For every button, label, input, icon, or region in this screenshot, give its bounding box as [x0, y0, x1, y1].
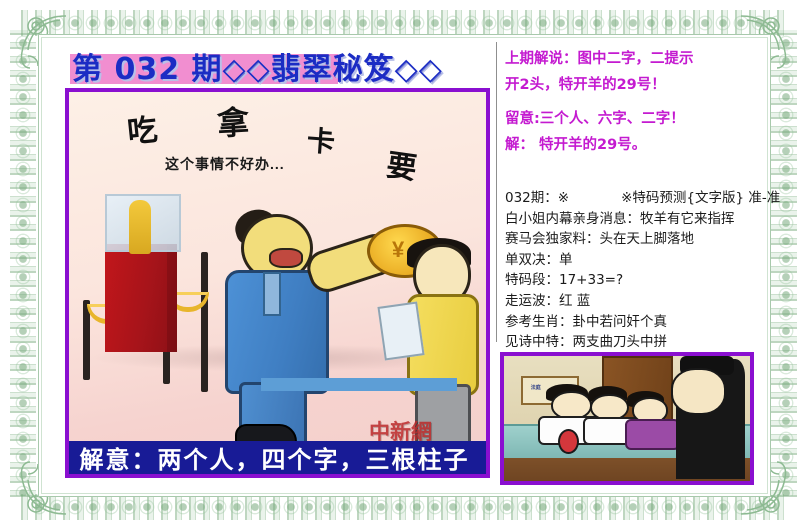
forecast-row: 白小姐内幕亲身消息：牧羊有它来指挥 — [505, 209, 767, 230]
ballot-box-base — [105, 244, 177, 352]
highlight-line-1: 上期解说：图中二字，二提示 — [505, 46, 694, 72]
forecast-mark-1: ※ — [558, 190, 569, 206]
ballot-box-slot — [129, 200, 151, 254]
caption-bar: 解意：两个人，四个字，三根柱子 — [65, 441, 490, 478]
forecast-row: 单双决：单 — [505, 250, 767, 271]
forecast-header-row: 032期：※※特码预测{文字版} 准-准 — [505, 188, 767, 209]
forecast-row: 走运波：红 蓝 — [505, 291, 767, 312]
highlight-line-3: 留意:三个人、六字、二字！ — [505, 106, 685, 132]
right-column: 上期解说：图中二字，二提示 开2头，特开羊的29号！ 留意:三个人、六字、二字！… — [499, 40, 763, 489]
illustration-glyph-1: 吃 — [125, 105, 159, 152]
scene-sign-text: 法庭 — [531, 384, 541, 391]
secondary-illustration-panel: 法庭 — [500, 352, 754, 485]
scene-person-tongue — [558, 429, 579, 454]
forecast-row: 参考生肖：卦中若问奸个真 — [505, 312, 767, 333]
frame-scallop-bottom — [30, 498, 777, 516]
blue-censor-bar — [261, 378, 457, 391]
illustration-glyph-4: 要 — [384, 140, 420, 188]
forecast-header-tail: 准-准 — [748, 190, 780, 206]
stanchion-post — [201, 252, 208, 392]
illustration-glyph-2: 拿 — [216, 97, 250, 145]
forecast-text-block: 032期：※※特码预测{文字版} 准-准 白小姐内幕亲身消息：牧羊有它来指挥 赛… — [505, 188, 767, 373]
illustration-glyph-3: 卡 — [306, 119, 337, 161]
forecast-row: 特码段：17+33=? — [505, 270, 767, 291]
document-in-hand — [377, 301, 424, 360]
page-root: 第 032 期◇◇翡翠秘笈◇◇ 吃 拿 卡 要 这个事情不好办... — [0, 0, 807, 529]
highlight-line-2: 开2头，特开羊的29号！ — [505, 72, 694, 98]
official-character — [217, 214, 335, 444]
forecast-issue-label: 032期： — [505, 190, 558, 206]
official-mouth — [269, 248, 303, 268]
frame-scallop-right — [777, 34, 795, 496]
forecast-mark-2: ※特码预测{文字版} — [621, 190, 744, 206]
content-area: 第 032 期◇◇翡翠秘笈◇◇ 吃 拿 卡 要 这个事情不好办... — [44, 40, 763, 489]
forecast-row: 见诗中特：两支曲刀头中拼 — [505, 332, 767, 353]
previous-issue-explanation: 上期解说：图中二字，二提示 开2头，特开羊的29号！ — [505, 46, 694, 98]
scene-judge-face — [671, 368, 726, 415]
title-row: 第 032 期◇◇翡翠秘笈◇◇ — [58, 44, 494, 88]
forecast-row: 赛马会独家料：头在天上脚落地 — [505, 229, 767, 250]
official-tie — [263, 272, 281, 316]
notice-block: 留意:三个人、六字、二字！ 解： 特开羊的29号。 — [505, 106, 685, 158]
column-divider — [496, 42, 497, 342]
frame-scallop-left — [14, 34, 32, 496]
page-title: 第 032 期◇◇翡翠秘笈◇◇ — [72, 44, 502, 88]
illustration-speech-text: 这个事情不好办... — [165, 154, 285, 174]
highlight-line-4: 解： 特开羊的29号。 — [505, 132, 685, 158]
scene-judge — [676, 359, 745, 479]
caption-text: 解意：两个人，四个字，三根柱子 — [80, 441, 470, 475]
left-column: 第 032 期◇◇翡翠秘笈◇◇ 吃 拿 卡 要 这个事情不好办... — [44, 40, 494, 489]
main-illustration-panel: 吃 拿 卡 要 这个事情不好办... — [65, 88, 490, 478]
frame-scallop-top — [30, 14, 777, 32]
scene-person-robe — [625, 419, 681, 451]
